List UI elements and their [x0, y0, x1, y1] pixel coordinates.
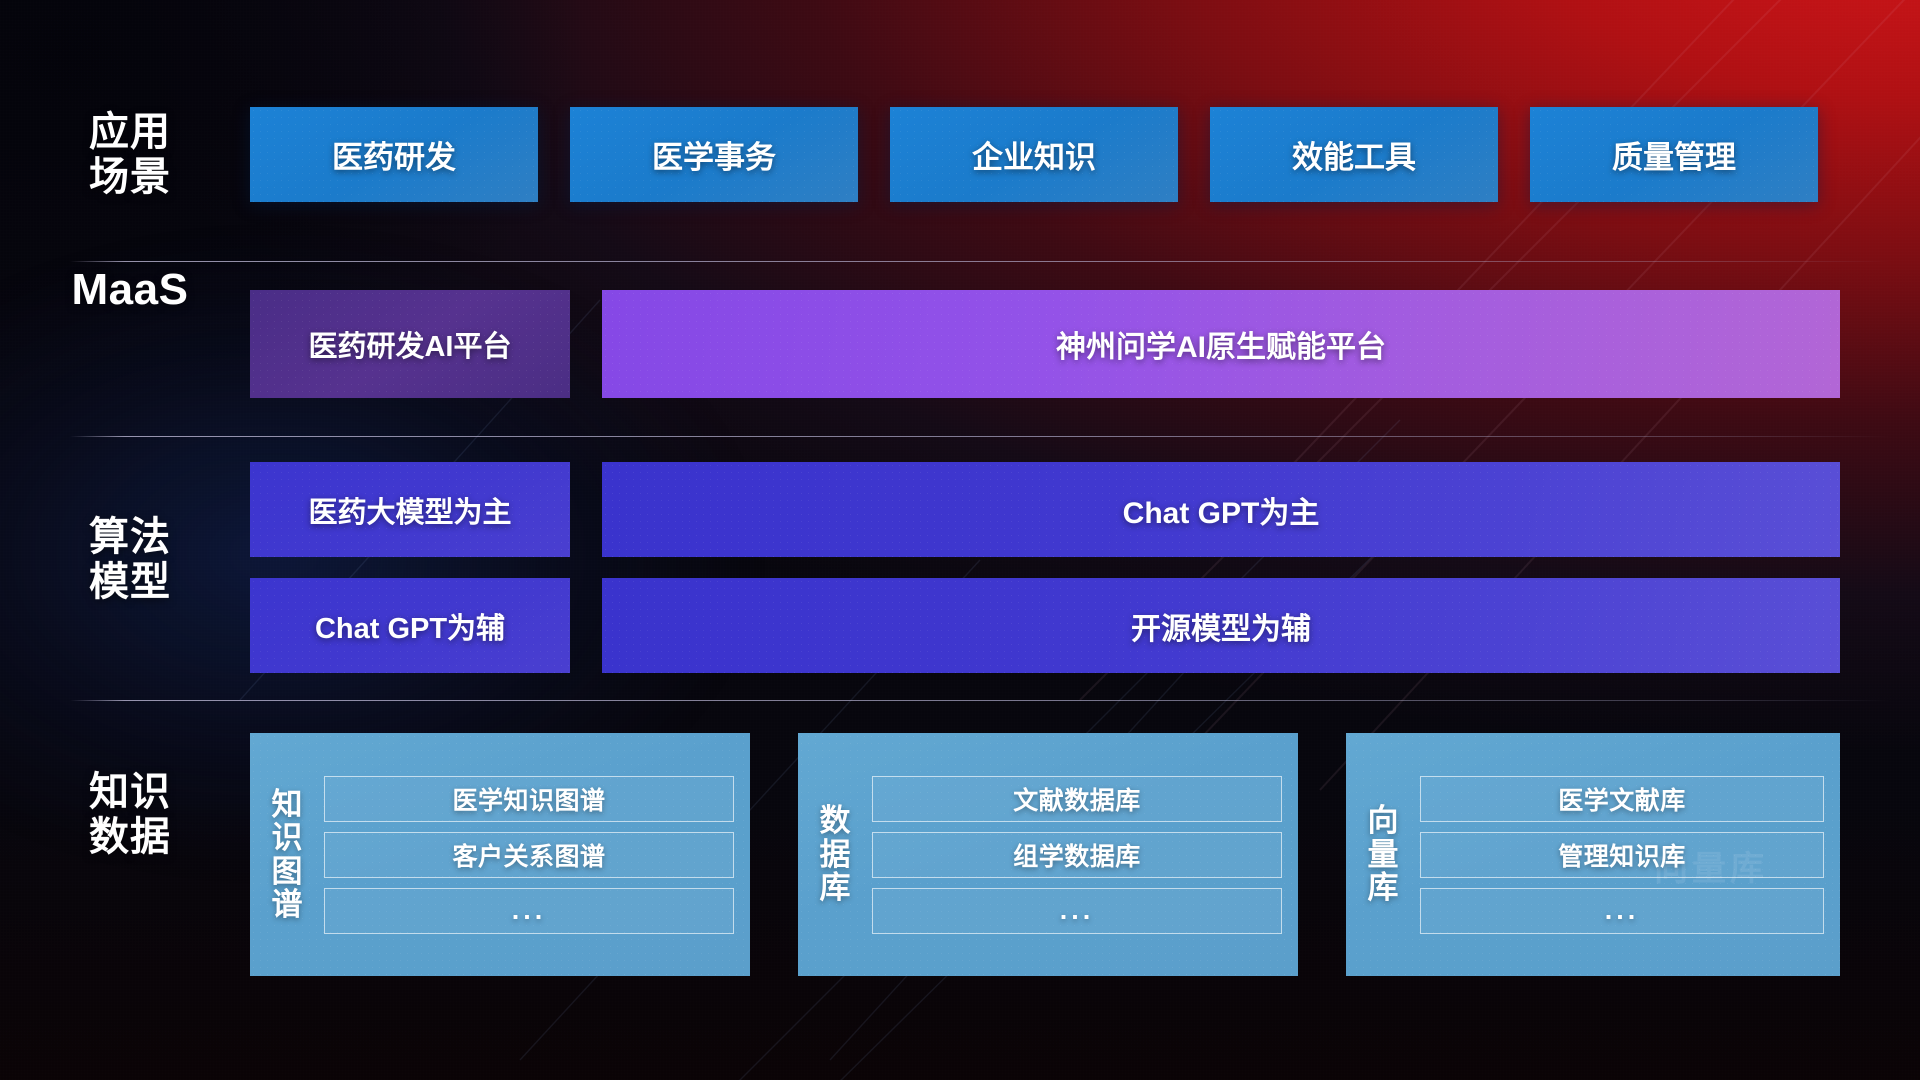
maas-card-shenzhou-wenxue-platform[interactable]: 神州问学AI原生赋能平台: [602, 290, 1840, 398]
app-card-label: 企业知识: [972, 132, 1096, 177]
algo-card-label: 开源模型为辅: [1131, 604, 1311, 648]
knowledge-item-medical-literature-library[interactable]: 医学文献库: [1420, 776, 1824, 822]
row-label-knowledge-data: 知识 数据: [70, 770, 190, 860]
row-algorithm-model-top: 医药大模型为主 Chat GPT为主: [250, 462, 1840, 557]
app-card-label: 医学事务: [652, 132, 776, 177]
row-knowledge-data: 知 识 图 谱 医学知识图谱 客户关系图谱 ... 数 据 库: [250, 733, 1840, 976]
app-card-quality-management[interactable]: 质量管理: [1530, 107, 1818, 202]
knowledge-group-items: 医学知识图谱 客户关系图谱 ...: [324, 776, 734, 934]
algo-card-chatgpt-secondary[interactable]: Chat GPT为辅: [250, 578, 570, 673]
app-card-label: 医药研发: [332, 132, 456, 177]
algo-card-chatgpt-primary[interactable]: Chat GPT为主: [602, 462, 1840, 557]
divider-after-maas-row: [70, 436, 1890, 437]
knowledge-item-more[interactable]: ...: [1420, 888, 1824, 934]
knowledge-item-more[interactable]: ...: [324, 888, 734, 934]
knowledge-item-label: ...: [1060, 895, 1095, 926]
knowledge-group-database[interactable]: 数 据 库 文献数据库 组学数据库 ...: [798, 733, 1298, 976]
knowledge-item-label: 文献数据库: [1013, 781, 1141, 817]
diagram-content: 应用 场景 医药研发 医学事务 企业知识 效能工具 质量管理 MaaS 医药研发…: [0, 0, 1920, 1080]
maas-card-drug-rd-ai-platform[interactable]: 医药研发AI平台: [250, 290, 570, 398]
algo-card-label: 医药大模型为主: [308, 489, 511, 531]
app-card-efficiency-tools[interactable]: 效能工具: [1210, 107, 1498, 202]
knowledge-group-knowledge-graph[interactable]: 知 识 图 谱 医学知识图谱 客户关系图谱 ...: [250, 733, 750, 976]
knowledge-item-label: 客户关系图谱: [452, 837, 605, 873]
knowledge-group-title: 数 据 库: [798, 804, 872, 904]
maas-card-label: 神州问学AI原生赋能平台: [1056, 322, 1386, 366]
knowledge-item-label: ...: [1605, 895, 1640, 926]
knowledge-item-label: 医学知识图谱: [452, 781, 605, 817]
knowledge-item-customer-relation-graph[interactable]: 客户关系图谱: [324, 832, 734, 878]
architecture-diagram-slide: 应用 场景 医药研发 医学事务 企业知识 效能工具 质量管理 MaaS 医药研发…: [0, 0, 1920, 1080]
app-card-label: 效能工具: [1292, 132, 1416, 177]
algo-card-label: Chat GPT为主: [1123, 488, 1320, 532]
knowledge-group-items: 文献数据库 组学数据库 ...: [872, 776, 1282, 934]
knowledge-item-literature-database[interactable]: 文献数据库: [872, 776, 1282, 822]
app-card-drug-rd[interactable]: 医药研发: [250, 107, 538, 202]
divider-after-algorithm-row: [70, 700, 1890, 701]
knowledge-item-label: 医学文献库: [1558, 781, 1686, 817]
knowledge-item-more[interactable]: ...: [872, 888, 1282, 934]
row-label-algorithm-model: 算法 模型: [70, 515, 190, 605]
knowledge-group-items: 医学文献库 管理知识库 ...: [1420, 776, 1824, 934]
row-label-maas: MaaS: [70, 265, 190, 314]
knowledge-item-label: ...: [512, 895, 547, 926]
knowledge-item-medical-knowledge-graph[interactable]: 医学知识图谱: [324, 776, 734, 822]
knowledge-item-label: 组学数据库: [1013, 837, 1141, 873]
knowledge-group-vector-database[interactable]: 向量库 向 量 库 医学文献库 管理知识库 ...: [1346, 733, 1840, 976]
knowledge-group-title: 知 识 图 谱: [250, 788, 324, 922]
row-application-scenario: 医药研发 医学事务 企业知识 效能工具 质量管理: [250, 107, 1840, 202]
row-algorithm-model-bottom: Chat GPT为辅 开源模型为辅: [250, 578, 1840, 673]
algo-card-opensource-secondary[interactable]: 开源模型为辅: [602, 578, 1840, 673]
maas-card-label: 医药研发AI平台: [308, 323, 511, 365]
divider-after-application-row: [70, 261, 1890, 262]
knowledge-item-label: 管理知识库: [1558, 837, 1686, 873]
app-card-label: 质量管理: [1612, 132, 1736, 177]
app-card-enterprise-knowledge[interactable]: 企业知识: [890, 107, 1178, 202]
algo-card-drug-large-model-primary[interactable]: 医药大模型为主: [250, 462, 570, 557]
app-card-medical-affairs[interactable]: 医学事务: [570, 107, 858, 202]
knowledge-item-management-knowledge-library[interactable]: 管理知识库: [1420, 832, 1824, 878]
knowledge-group-title: 向 量 库: [1346, 804, 1420, 904]
knowledge-item-omics-database[interactable]: 组学数据库: [872, 832, 1282, 878]
algo-card-label: Chat GPT为辅: [315, 605, 505, 647]
row-maas: 医药研发AI平台 神州问学AI原生赋能平台: [250, 290, 1840, 398]
row-label-application-scenario: 应用 场景: [70, 110, 190, 200]
